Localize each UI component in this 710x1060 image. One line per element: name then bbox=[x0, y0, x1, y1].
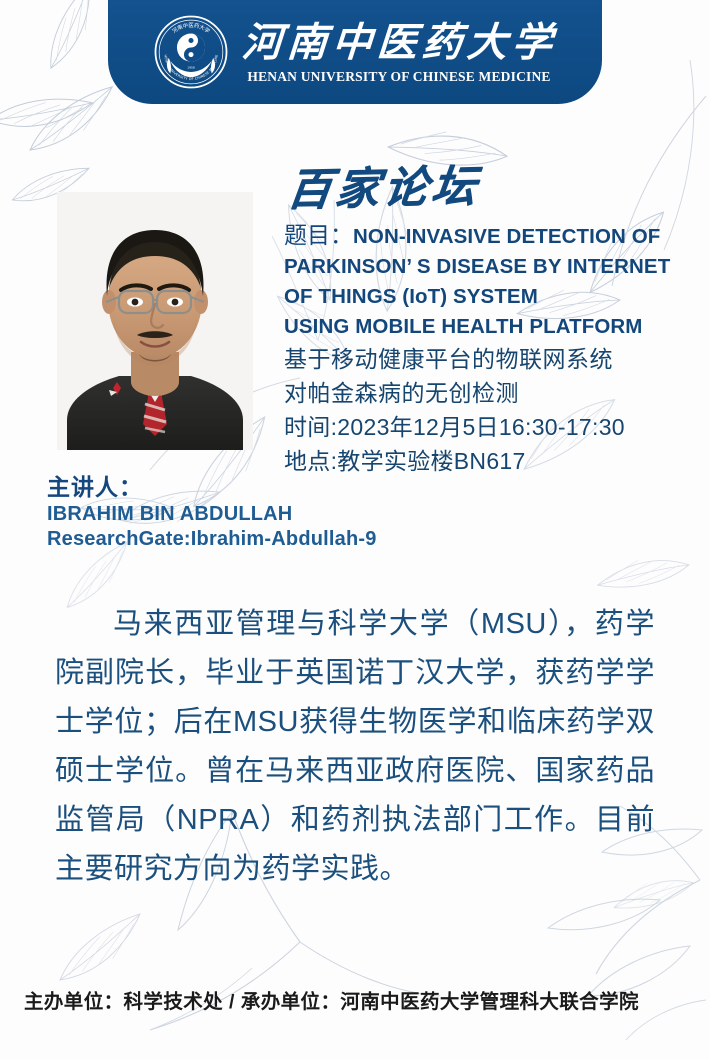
topic-cn-line-2: 对帕金森病的无创检测 bbox=[284, 376, 684, 410]
svg-text:河南中医药大学: 河南中医药大学 bbox=[170, 21, 212, 35]
footer-separator: / bbox=[223, 991, 241, 1013]
speaker-block: 主讲人： IBRAHIM BIN ABDULLAH ResearchGate:I… bbox=[47, 472, 377, 552]
topic-en-line-2: PARKINSON’ S DISEASE BY INTERNET bbox=[284, 252, 684, 282]
topic-en-line-4: USING MOBILE HEALTH PLATFORM bbox=[284, 312, 684, 342]
host-label: 承办单位： bbox=[241, 991, 341, 1013]
topic-line-1: 题目：NON-INVASIVE DETECTION OF bbox=[284, 220, 684, 252]
organizer-value: 科学技术处 bbox=[124, 991, 224, 1013]
host-value: 河南中医药大学管理科大联合学院 bbox=[340, 991, 639, 1013]
footer-organizers: 主办单位：科学技术处/承办单位：河南中医药大学管理科大联合学院 bbox=[24, 985, 690, 1014]
talk-info-block: 题目：NON-INVASIVE DETECTION OF PARKINSON’ … bbox=[284, 220, 684, 478]
topic-cn-line-1: 基于移动健康平台的物联网系统 bbox=[284, 342, 684, 376]
speaker-label: 主讲人： bbox=[47, 472, 377, 502]
poster-root: 河南中医药大学 HENAN UNIVERSITY OF CHINESE MEDI… bbox=[0, 0, 710, 1060]
header-banner: 河南中医药大学 HENAN UNIVERSITY OF CHINESE MEDI… bbox=[108, 0, 602, 104]
speaker-biography: 马来西亚管理与科学大学（MSU），药学院副院长，毕业于英国诺丁汉大学，获药学学士… bbox=[55, 600, 655, 894]
speaker-portrait-photo bbox=[57, 192, 253, 450]
svg-text:1958: 1958 bbox=[187, 65, 195, 69]
university-name-cn: 河南中医药大学 bbox=[240, 23, 558, 63]
organizer-label: 主办单位： bbox=[24, 991, 124, 1013]
forum-title: 百家论坛 bbox=[284, 150, 484, 218]
topic-label: 题目： bbox=[284, 222, 353, 248]
university-name-en: HENAN UNIVERSITY OF CHINESE MEDICINE bbox=[247, 70, 550, 84]
topic-en-line-1: NON-INVASIVE DETECTION OF bbox=[353, 225, 660, 248]
university-name-block: 河南中医药大学 HENAN UNIVERSITY OF CHINESE MEDI… bbox=[242, 23, 557, 84]
topic-en-line-3: OF THINGS (IoT) SYSTEM bbox=[284, 282, 684, 312]
talk-time: 时间:2023年12月5日16:30-17:30 bbox=[284, 410, 684, 444]
speaker-researchgate[interactable]: ResearchGate:Ibrahim-Abdullah-9 bbox=[47, 527, 377, 552]
speaker-name: IBRAHIM BIN ABDULLAH bbox=[47, 502, 377, 527]
university-emblem-yinyang-icon: 河南中医药大学 HENAN UNIVERSITY OF CHINESE MEDI… bbox=[154, 15, 228, 89]
